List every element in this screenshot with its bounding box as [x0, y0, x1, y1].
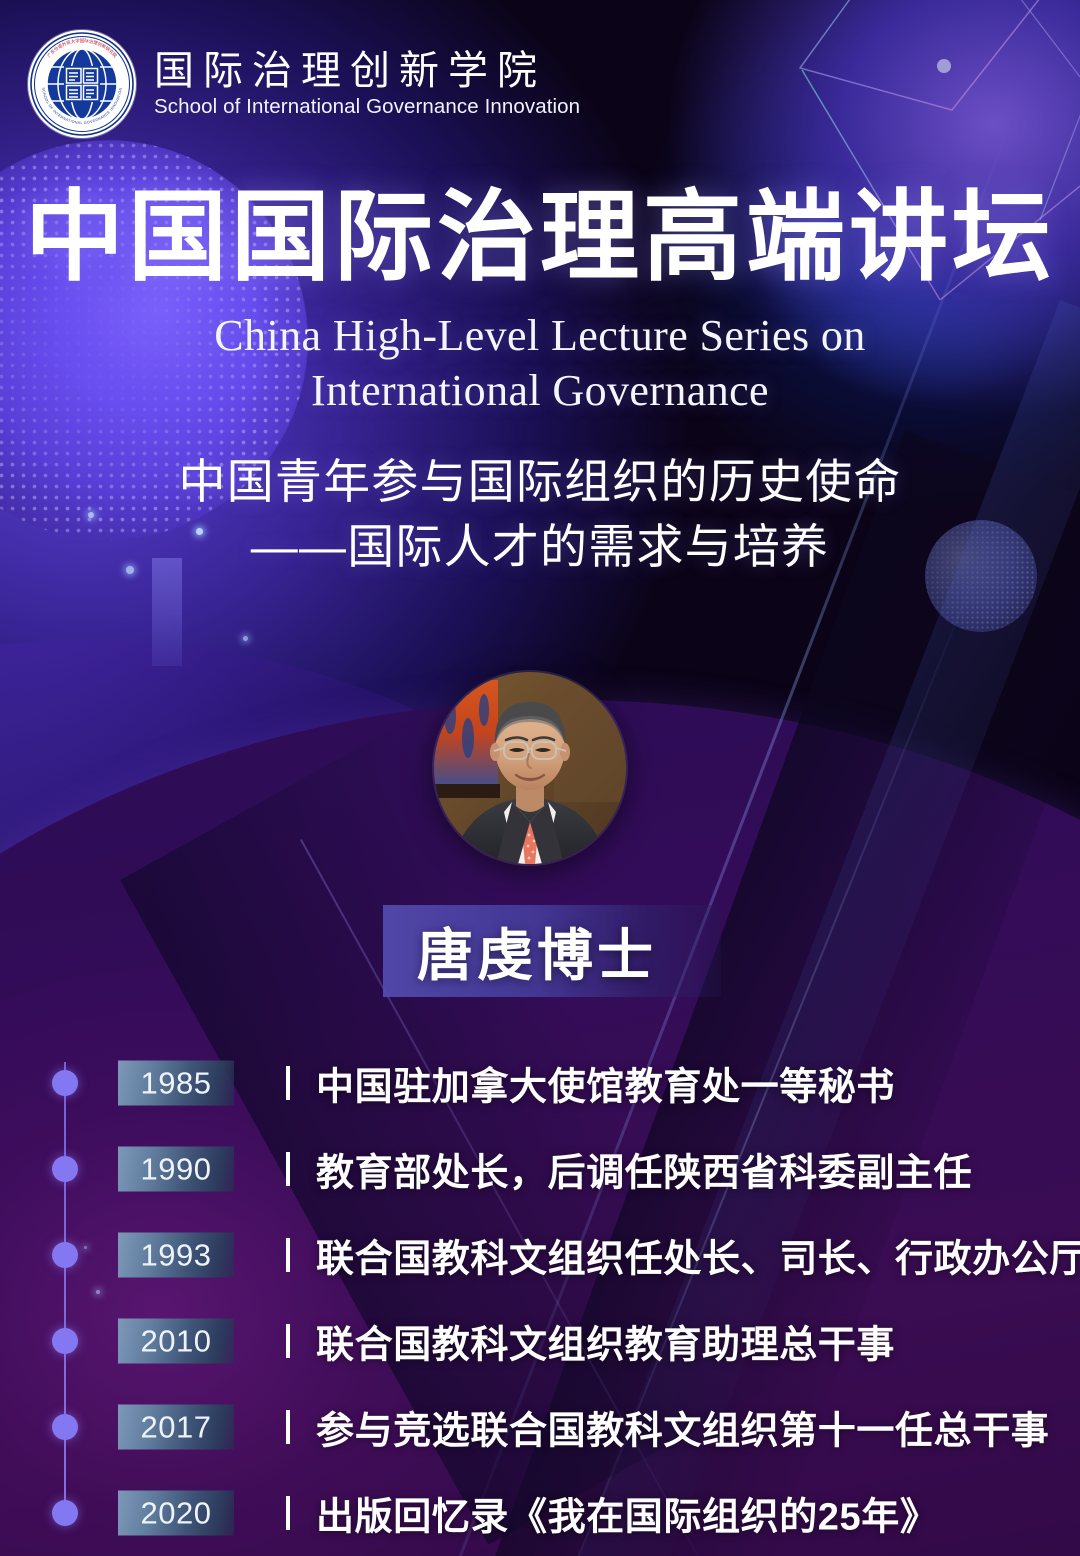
timeline-dot	[52, 1328, 78, 1354]
timeline-year-badge: 2017	[118, 1405, 234, 1450]
timeline-year: 1985	[141, 1065, 212, 1101]
timeline-description: 教育部处长，后调任陕西省科委副主任	[316, 1142, 972, 1197]
sparkle-dot	[243, 636, 248, 641]
series-title-en: China High-Level Lecture Series on Inter…	[0, 308, 1080, 419]
series-title-cn: 中国国际治理高端讲坛	[0, 182, 1080, 293]
timeline-year-badge: 2010	[118, 1319, 234, 1364]
school-seal-globe-icon: 广东外语外贸大学国际治理创新研究院 SCHOOL OF INTERNATIONA…	[28, 30, 136, 138]
timeline-year: 2017	[141, 1409, 212, 1445]
timeline-dot	[52, 1156, 78, 1182]
timeline-description: 出版回忆录《我在国际组织的25年》	[316, 1486, 938, 1541]
timeline-year-badge: 1985	[118, 1061, 234, 1106]
timeline-separator-bar	[286, 1410, 290, 1444]
timeline-separator-bar	[286, 1152, 290, 1186]
timeline-row: 1985 中国驻加拿大使馆教育处一等秘书	[0, 1040, 1080, 1126]
timeline-description: 参与竞选联合国教科文组织第十一任总干事	[316, 1400, 1049, 1455]
speaker-name-plate: 唐虔博士	[383, 905, 721, 997]
school-name-en: School of International Governance Innov…	[154, 95, 580, 119]
timeline-dot	[52, 1070, 78, 1096]
timeline-year: 2010	[141, 1323, 212, 1359]
timeline-row: 2010 联合国教科文组织教育助理总干事	[0, 1298, 1080, 1384]
series-title-en-line1: China High-Level Lecture Series on	[0, 308, 1080, 363]
career-timeline: 1985 中国驻加拿大使馆教育处一等秘书 1990 教育部处长，后调任陕西省科委…	[0, 1040, 1080, 1556]
timeline-dot	[52, 1414, 78, 1440]
lecture-topic: 中国青年参与国际组织的历史使命 ——国际人才的需求与培养	[0, 450, 1080, 580]
timeline-separator-bar	[286, 1496, 290, 1530]
lecture-topic-line1: 中国青年参与国际组织的历史使命	[0, 450, 1080, 515]
timeline-year-badge: 1993	[118, 1233, 234, 1278]
timeline-separator-bar	[286, 1324, 290, 1358]
speaker-portrait-photo	[434, 672, 626, 864]
speaker-name: 唐虔博士	[417, 911, 657, 992]
timeline-dot	[52, 1500, 78, 1526]
timeline-description: 中国驻加拿大使馆教育处一等秘书	[316, 1056, 895, 1111]
timeline-year: 2020	[141, 1495, 212, 1531]
timeline-row: 2020 出版回忆录《我在国际组织的25年》	[0, 1470, 1080, 1556]
timeline-description: 联合国教科文组织任处长、司长、行政办公厅主任	[316, 1228, 1080, 1283]
timeline-row: 1993 联合国教科文组织任处长、司长、行政办公厅主任	[0, 1212, 1080, 1298]
timeline-year-badge: 1990	[118, 1147, 234, 1192]
lecture-poster: 广东外语外贸大学国际治理创新研究院 SCHOOL OF INTERNATIONA…	[0, 0, 1080, 1556]
series-title-en-line2: International Governance	[0, 363, 1080, 418]
school-name-cn: 国际治理创新学院	[154, 49, 580, 94]
timeline-dot	[52, 1242, 78, 1268]
timeline-description: 联合国教科文组织教育助理总干事	[316, 1314, 895, 1369]
timeline-year: 1990	[141, 1151, 212, 1187]
timeline-row: 2017 参与竞选联合国教科文组织第十一任总干事	[0, 1384, 1080, 1470]
lecture-topic-line2: ——国际人才的需求与培养	[0, 515, 1080, 580]
timeline-separator-bar	[286, 1066, 290, 1100]
timeline-row: 1990 教育部处长，后调任陕西省科委副主任	[0, 1126, 1080, 1212]
school-header: 广东外语外贸大学国际治理创新研究院 SCHOOL OF INTERNATIONA…	[28, 30, 580, 138]
timeline-year: 1993	[141, 1237, 212, 1273]
timeline-year-badge: 2020	[118, 1491, 234, 1536]
timeline-separator-bar	[286, 1238, 290, 1272]
